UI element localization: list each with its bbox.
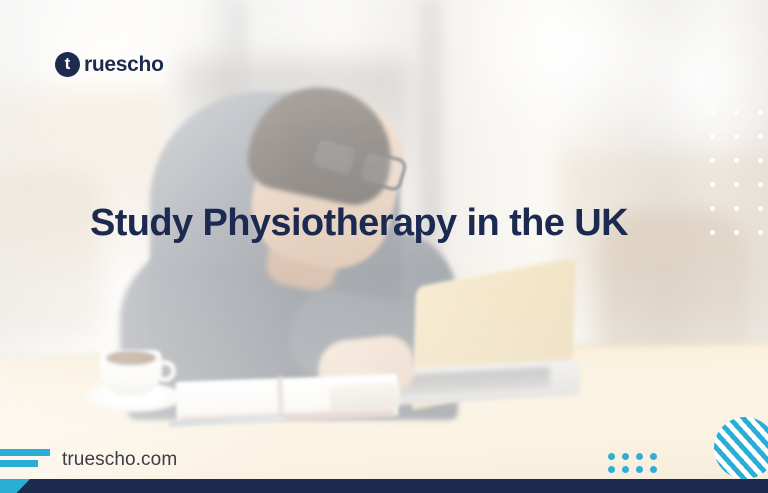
cyan-dot — [622, 453, 629, 460]
blurred-chair-left — [0, 170, 100, 340]
logo-mark-letter: t — [65, 55, 71, 72]
cyan-dot-grid — [604, 450, 660, 476]
cyan-dot — [650, 453, 657, 460]
grid-dot — [758, 230, 763, 235]
bar-top — [0, 449, 50, 456]
grid-dot — [758, 158, 763, 163]
bar-bottom — [0, 460, 38, 467]
grid-dot — [734, 182, 739, 187]
coffee-cup-handle — [154, 360, 176, 382]
brand-logo[interactable]: t ruescho — [55, 52, 164, 77]
glasses-bridge — [350, 153, 364, 160]
grid-dot — [710, 110, 715, 115]
cyan-dot — [622, 466, 629, 473]
grid-dot — [734, 110, 739, 115]
cyan-dot — [650, 466, 657, 473]
cyan-dot — [608, 466, 615, 473]
brand-url-text: truescho.com — [62, 450, 177, 469]
grid-dot — [710, 158, 715, 163]
bottom-navy-bar — [0, 479, 768, 493]
grid-dot — [758, 134, 763, 139]
coffee-liquid — [106, 351, 156, 365]
striped-circle-decoration — [714, 417, 768, 479]
grid-dot — [734, 158, 739, 163]
brand-url-strip[interactable]: truescho.com — [0, 447, 177, 471]
grid-dot — [758, 110, 763, 115]
cyan-dot — [636, 466, 643, 473]
grid-dot — [710, 206, 715, 211]
grid-dot — [758, 206, 763, 211]
cyan-dot — [636, 453, 643, 460]
logo-wordmark: ruescho — [84, 54, 164, 75]
grid-dot — [758, 182, 763, 187]
grid-dot — [710, 182, 715, 187]
grid-dot — [734, 230, 739, 235]
article-hero-banner: t ruescho Study Physiotherapy in the UK … — [0, 0, 768, 493]
cyan-bars-icon — [0, 447, 52, 471]
grid-dot — [710, 134, 715, 139]
cyan-dot — [608, 453, 615, 460]
grid-dot — [710, 230, 715, 235]
page-title: Study Physiotherapy in the UK — [90, 203, 710, 245]
white-dot-grid — [700, 100, 768, 244]
logo-circle-t-icon: t — [55, 52, 80, 77]
notebook-pages — [329, 382, 400, 412]
grid-dot — [734, 134, 739, 139]
grid-dot — [734, 206, 739, 211]
